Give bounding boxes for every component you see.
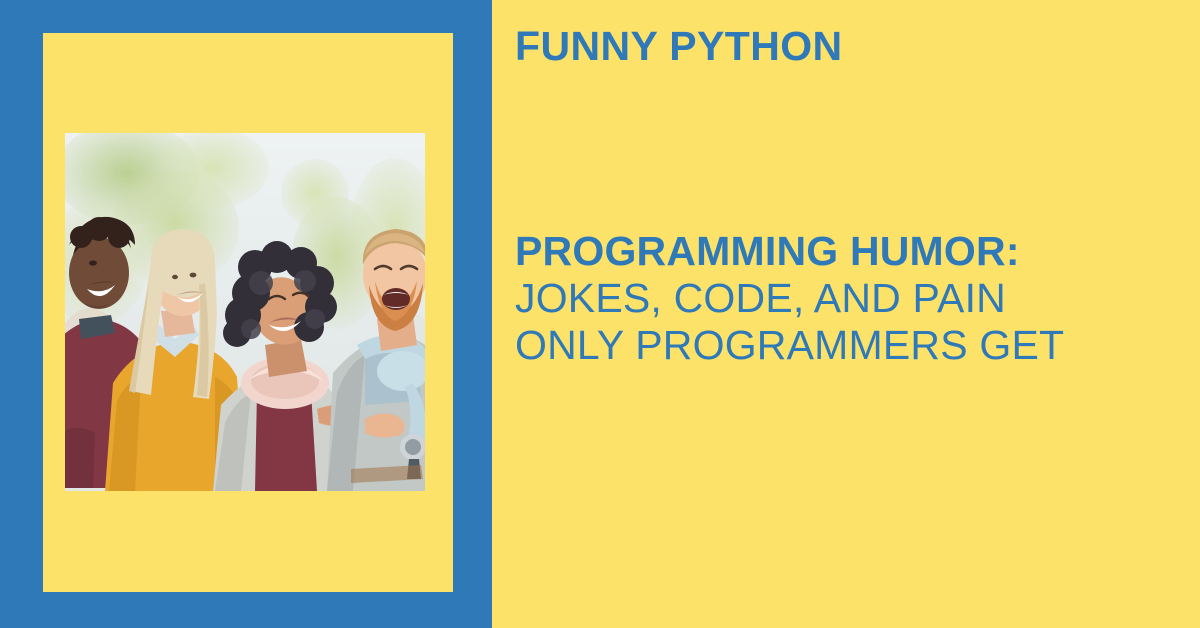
headline: PROGRAMMING HUMOR: JOKES, CODE, AND PAIN…: [515, 228, 1175, 369]
site-title: FUNNY PYTHON: [515, 25, 843, 68]
headline-line-2: JOKES, CODE, AND PAIN: [515, 275, 1175, 322]
blue-accent-panel: [0, 0, 492, 628]
social-banner: FUNNY PYTHON PROGRAMMING HUMOR: JOKES, C…: [0, 0, 1200, 628]
headline-line-1: PROGRAMMING HUMOR:: [515, 228, 1175, 275]
yellow-photo-card: [43, 33, 453, 592]
content-panel: FUNNY PYTHON PROGRAMMING HUMOR: JOKES, C…: [492, 0, 1200, 628]
headline-line-3: ONLY PROGRAMMERS GET: [515, 322, 1175, 369]
friends-photo: [65, 133, 425, 491]
